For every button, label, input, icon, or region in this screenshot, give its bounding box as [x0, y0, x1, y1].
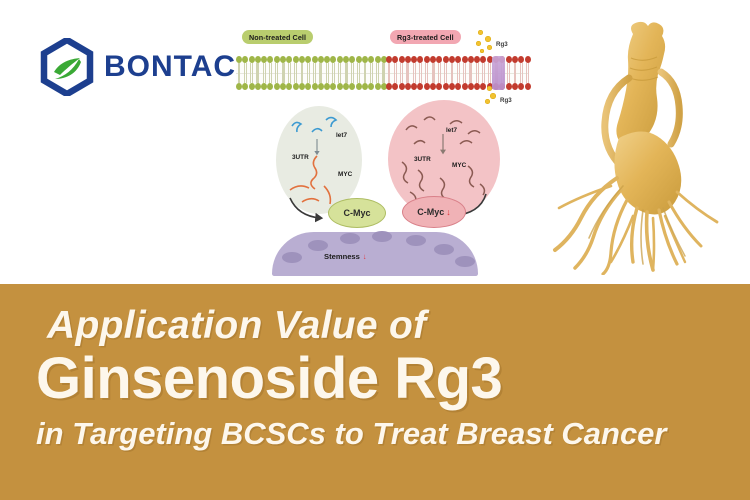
left-cmyc-label: C-Myc [343, 208, 370, 218]
brand-name: BONTAC [104, 52, 236, 82]
right-cmyc-label: C-Myc [417, 207, 444, 217]
left-cell-let7-label: let7 [336, 132, 347, 139]
membrane-transport-channel [492, 56, 505, 90]
membrane-left-green [236, 56, 386, 90]
right-cmyc-oval: C-Myc↓ [402, 196, 466, 228]
bontac-hexagon-leaf-logo [40, 38, 94, 96]
rg3-treated-cell-badge: Rg3-treated Cell [390, 30, 461, 44]
membrane-right-red [386, 56, 528, 90]
brand-logo[interactable]: BONTAC [40, 38, 236, 96]
right-cell-let7-label: let7 [446, 127, 457, 134]
right-cell-myc-label: MYC [452, 162, 466, 169]
rg3-label-top: Rg3 [496, 41, 508, 48]
stemness-down-arrow-icon: ↓ [363, 252, 367, 261]
title-line-2: Ginsenoside Rg3 [36, 350, 502, 408]
tumor-stemness-dome [272, 232, 478, 276]
stemness-label: Stemness [324, 252, 360, 261]
cmyc-down-arrow-icon: ↓ [446, 207, 451, 217]
ginseng-root-image [545, 10, 745, 275]
cell-membrane-bilayer [236, 56, 528, 90]
title-banner: Application Value of Ginsenoside Rg3 in … [0, 284, 750, 500]
rg3-label-bottom: Rg3 [500, 97, 512, 104]
left-cell-myc-label: MYC [338, 171, 352, 178]
title-line-1: Application Value of [47, 306, 426, 345]
left-cmyc-oval: C-Myc [328, 198, 386, 228]
rg3-mechanism-diagram: Non-treated Cell Rg3-treated Cell Rg3 [228, 14, 528, 280]
left-cell-3utr-label: 3UTR [292, 154, 309, 161]
poster-canvas: BONTAC Non-treated Cell Rg3-treated Cell… [0, 0, 750, 500]
right-cell-3utr-label: 3UTR [414, 156, 431, 163]
stemness-label-group: Stemness↓ [324, 252, 367, 261]
non-treated-cell-badge: Non-treated Cell [242, 30, 313, 44]
title-line-3: in Targeting BCSCs to Treat Breast Cance… [36, 418, 667, 449]
